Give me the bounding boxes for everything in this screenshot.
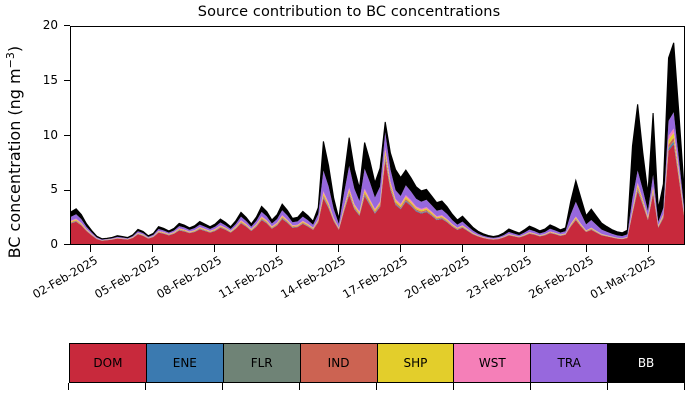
y-axis-label-close: ) (5, 46, 24, 52)
y-axis-label-exponent: −3 (4, 52, 17, 68)
stacked-area-plot (71, 27, 684, 244)
legend-tick (530, 383, 531, 390)
x-tick-label: 11-Feb-2025 (215, 253, 286, 302)
y-tick-label: 10 (18, 128, 58, 142)
x-tick-label: 23-Feb-2025 (463, 253, 534, 302)
x-tick-mark (214, 245, 215, 252)
x-tick-mark (90, 245, 91, 252)
legend-tick (68, 383, 69, 390)
x-tick-mark (586, 245, 587, 252)
y-tick-label: 20 (18, 18, 58, 32)
legend-tick (684, 383, 685, 390)
y-tick-label: 5 (18, 182, 58, 196)
chart-title: Source contribution to BC concentrations (0, 4, 698, 20)
x-tick-mark (524, 245, 525, 252)
legend-item-wst[interactable]: WST (454, 344, 531, 382)
x-tick-label: 05-Feb-2025 (91, 253, 162, 302)
legend-colorbar[interactable]: DOMENEFLRINDSHPWSTTRABB (69, 343, 685, 383)
legend-item-ene[interactable]: ENE (147, 344, 224, 382)
x-tick-mark (400, 245, 401, 252)
y-tick-label: 0 (18, 237, 58, 251)
x-tick-mark (648, 245, 649, 252)
legend-item-ind[interactable]: IND (301, 344, 378, 382)
x-tick-mark (462, 245, 463, 252)
x-tick-mark (152, 245, 153, 252)
x-tick-mark (338, 245, 339, 252)
legend-tick (299, 383, 300, 390)
x-tick-label: 08-Feb-2025 (153, 253, 224, 302)
legend-tick (453, 383, 454, 390)
y-tick-label: 15 (18, 73, 58, 87)
x-tick-label: 14-Feb-2025 (277, 253, 348, 302)
legend-tick (145, 383, 146, 390)
legend-tick (222, 383, 223, 390)
legend-item-bb[interactable]: BB (608, 344, 684, 382)
legend-item-tra[interactable]: TRA (531, 344, 608, 382)
legend-item-dom[interactable]: DOM (70, 344, 147, 382)
legend-tick (607, 383, 608, 390)
plot-area (70, 26, 685, 245)
legend-item-flr[interactable]: FLR (224, 344, 301, 382)
figure-canvas: Source contribution to BC concentrations… (0, 0, 698, 402)
x-tick-mark (276, 245, 277, 252)
x-tick-label: 17-Feb-2025 (339, 253, 410, 302)
x-tick-label: 02-Feb-2025 (29, 253, 100, 302)
x-tick-label: 20-Feb-2025 (401, 253, 472, 302)
x-tick-label: 26-Feb-2025 (525, 253, 596, 302)
y-axis-label-main: BC concentration (ng m (5, 68, 24, 258)
x-tick-label: 01-Mar-2025 (587, 253, 658, 302)
legend-tick (376, 383, 377, 390)
legend-item-shp[interactable]: SHP (378, 344, 455, 382)
